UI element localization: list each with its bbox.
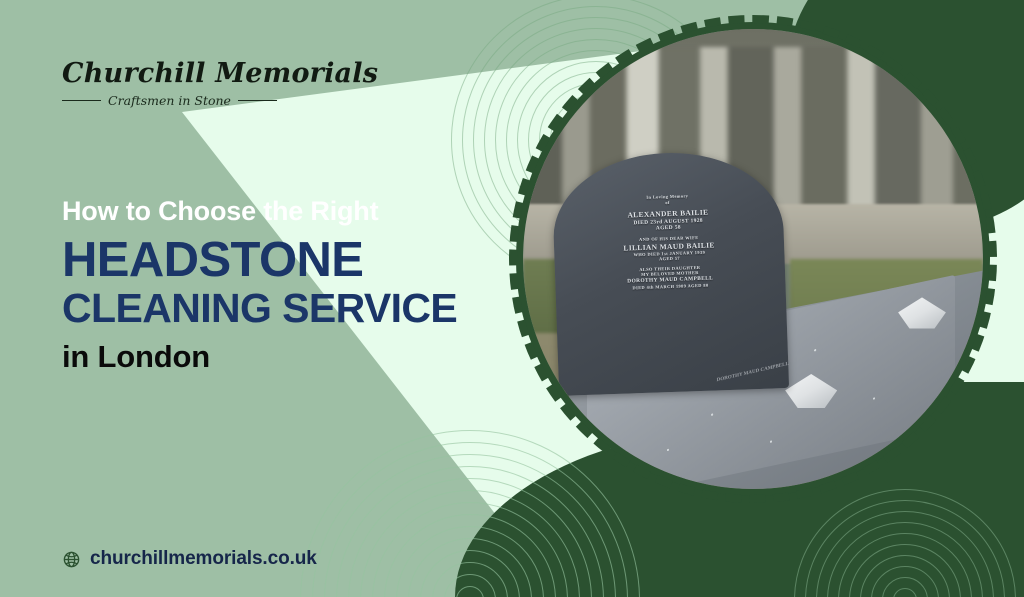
promo-banner: In Loving Memory of ALEXANDER BAILIE DIE… bbox=[0, 0, 1024, 597]
globe-icon bbox=[62, 550, 81, 569]
brand-logo-name: Churchill Memorials bbox=[62, 60, 277, 87]
logo-rule-right bbox=[238, 100, 277, 101]
brand-logo[interactable]: Churchill Memorials Craftsmen in Stone bbox=[62, 60, 277, 108]
headstone-photo-image: In Loving Memory of ALEXANDER BAILIE DIE… bbox=[523, 29, 983, 489]
headline-line-1: HEADSTONE bbox=[62, 235, 532, 287]
headline-line-3: in London bbox=[62, 339, 532, 375]
brand-logo-tagline-row: Craftsmen in Stone bbox=[62, 93, 277, 108]
headline-line-2: CLEANING SERVICE bbox=[62, 287, 532, 330]
website-url[interactable]: churchillmemorials.co.uk bbox=[90, 548, 317, 570]
brand-logo-tagline: Craftsmen in Stone bbox=[108, 93, 231, 108]
logo-rule-left bbox=[62, 100, 101, 101]
website-footer[interactable]: churchillmemorials.co.uk bbox=[62, 548, 317, 570]
headline-kicker: How to Choose the Right bbox=[62, 196, 532, 227]
headline-block: How to Choose the Right HEADSTONE CLEANI… bbox=[62, 196, 532, 375]
photo-headstone: In Loving Memory of ALEXANDER BAILIE DIE… bbox=[551, 149, 789, 396]
headstone-photo: In Loving Memory of ALEXANDER BAILIE DIE… bbox=[516, 22, 990, 496]
